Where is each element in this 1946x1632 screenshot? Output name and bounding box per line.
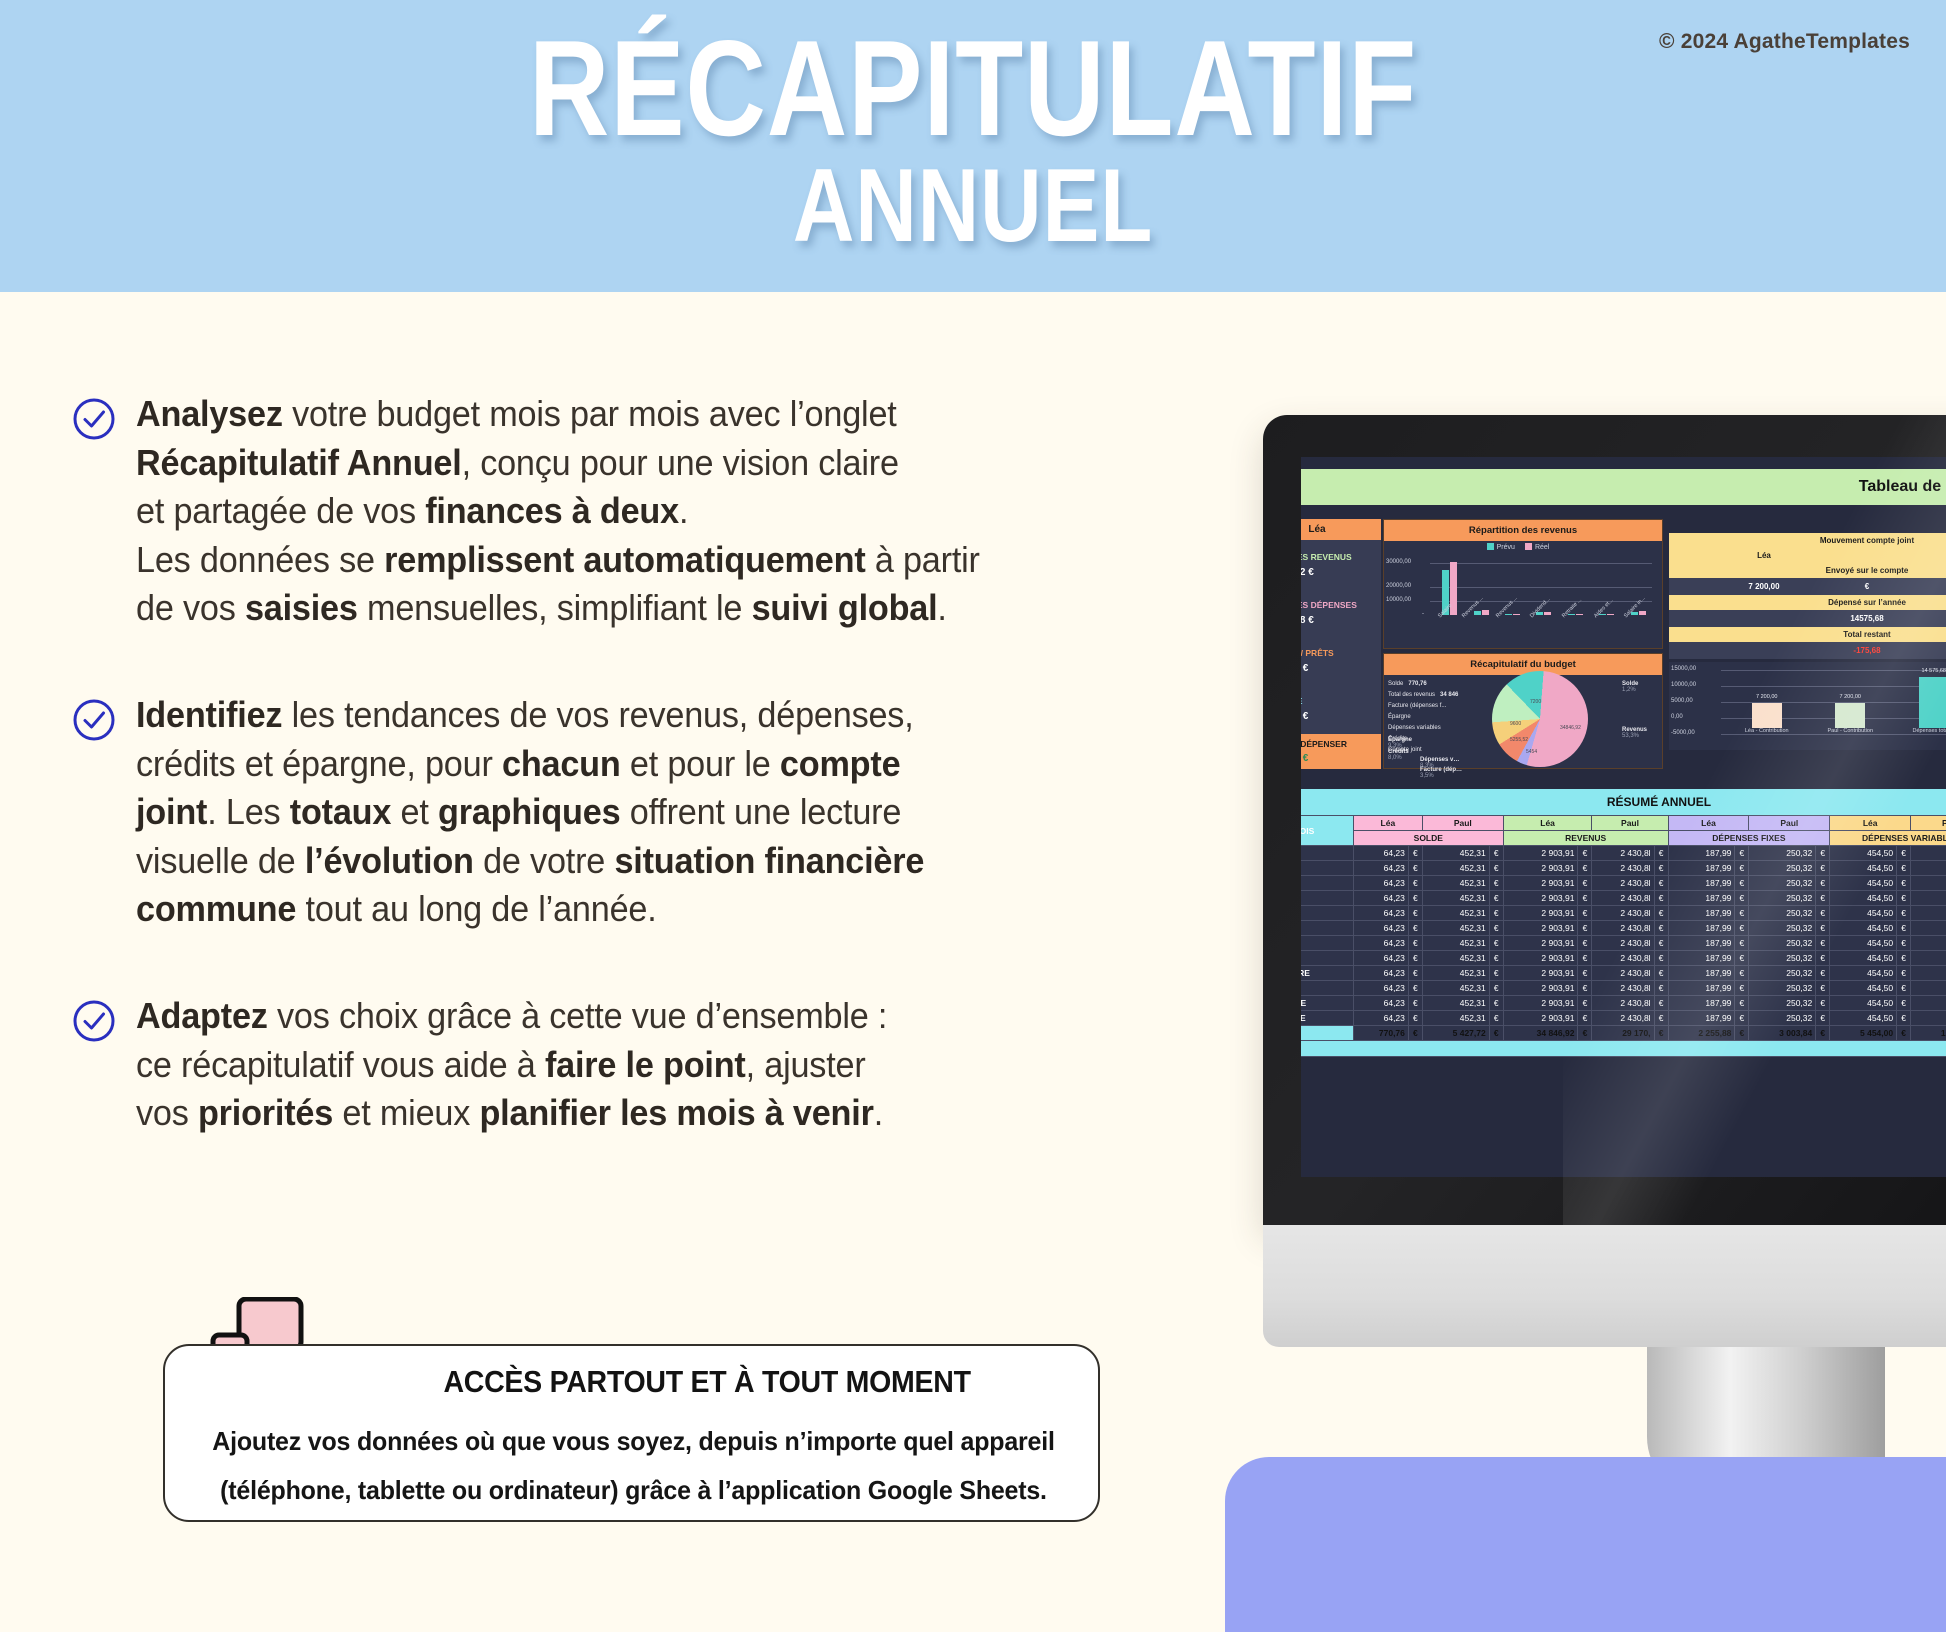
check-circle-icon (72, 698, 116, 742)
col-sub-léa: Léa (1830, 816, 1911, 831)
cell-value: 452,31 (1422, 846, 1489, 861)
benefit-text-line: joint. Les totaux et graphiques offrent … (136, 788, 924, 837)
totals-row: CRÉDITS / PRÊTS5 255,52 € (1301, 648, 1334, 674)
cell-currency: € (1816, 906, 1830, 921)
cell-currency: € (1735, 891, 1749, 906)
cell-currency: € (1578, 981, 1592, 996)
cell-value: 64,23 (1353, 951, 1408, 966)
cell-currency: € (1408, 966, 1422, 981)
cell-currency: € (1489, 891, 1503, 906)
cell-value: 187,99 (1668, 996, 1735, 1011)
benefit-text-line: commune tout au long de l’année. (136, 885, 924, 934)
cell-value: 454,50 (1830, 891, 1897, 906)
cell-currency: € (1654, 966, 1668, 981)
benefit-text-line: et partagée de vos finances à deux. (136, 487, 980, 536)
table-group-row: SOLDEREVENUSDÉPENSES FIXESDÉPENSES VARIA… (1301, 831, 1946, 846)
cell-value: 250,32 (1749, 906, 1816, 921)
cell-currency: € (1408, 891, 1422, 906)
cell-currency: € (1897, 981, 1911, 996)
cell-value: 454,50 (1830, 966, 1897, 981)
x-axis-label: Léa - Contribution (1744, 728, 1790, 750)
col-group-label: REVENUS (1503, 831, 1668, 846)
cell-currency: € (1408, 921, 1422, 936)
cell-currency: € (1897, 966, 1911, 981)
header-band: © 2024 AgatheTemplates RÉCAPITULATIF ANN… (0, 0, 1946, 292)
col-sub-léa: Léa (1668, 816, 1749, 831)
pie-callout: Épargne9,3% (1388, 737, 1412, 749)
joint-sent-paul: 7 200,00 (1875, 578, 1946, 595)
cell-currency: € (1816, 846, 1830, 861)
joint-x-labels: Léa - ContributionPaul - ContributionDép… (1725, 728, 1946, 750)
cell-currency: € (1578, 936, 1592, 951)
cell-currency: € (1897, 846, 1911, 861)
revenus-chart-panel: Répartition des revenus PrévuRéel 30000,… (1383, 519, 1663, 649)
joint-sent-lea: 7 200,00 (1669, 578, 1859, 595)
benefit-text-line: Adaptez vos choix grâce à cette vue d’en… (136, 992, 887, 1041)
col-month: MOIS (1301, 816, 1353, 846)
cell-value: 187,99 (1668, 846, 1735, 861)
table-row: MAI64,23€452,31€2 903,91€2 430,8l€187,99… (1301, 906, 1946, 921)
cell-currency: € (1654, 921, 1668, 936)
benefit-text-line: Identifiez les tendances de vos revenus,… (136, 691, 924, 740)
cell-currency: € (1816, 921, 1830, 936)
cell-currency: € (1489, 906, 1503, 921)
cell-value: 454,50 (1830, 906, 1897, 921)
cell-currency: € (1578, 861, 1592, 876)
cell-currency: € (1897, 906, 1911, 921)
cell-currency: € (1489, 981, 1503, 996)
totals-value: 3 003,84 (1749, 1026, 1816, 1041)
cell-currency: € (1408, 1011, 1422, 1026)
table-row: AOÛT64,23€452,31€2 903,91€2 430,8l€187,9… (1301, 951, 1946, 966)
cell-value: 885,77 (1911, 876, 1946, 891)
jtick-5000: 5000,00 (1671, 698, 1693, 704)
joint-title: Mouvement compte joint (1669, 533, 1946, 548)
pie-callout: Facture (dép…3,5% (1420, 767, 1462, 779)
benefit-item: Analysez votre budget mois par mois avec… (72, 390, 1182, 633)
totals-currency: € (1489, 1026, 1503, 1041)
cell-value: 2 430,8l (1592, 891, 1654, 906)
row-month-label: DÉCEMBRE (1301, 1011, 1353, 1026)
cell-value: 250,32 (1749, 861, 1816, 876)
cell-currency: € (1735, 906, 1749, 921)
cell-value: 250,32 (1749, 966, 1816, 981)
cell-currency: € (1816, 861, 1830, 876)
cell-value: 64,23 (1353, 891, 1408, 906)
table-row: JUILLET64,23€452,31€2 903,91€2 430,8l€18… (1301, 936, 1946, 951)
cell-value: 452,31 (1422, 981, 1489, 996)
row-month-label: MAI (1301, 906, 1353, 921)
cell-currency: € (1816, 966, 1830, 981)
cell-value: 64,23 (1353, 876, 1408, 891)
pie-callout: Revenus53,3% (1622, 727, 1647, 739)
cell-value: 2 903,91 (1503, 921, 1578, 936)
totals-value: 5 427,72 (1422, 1026, 1489, 1041)
cell-currency: € (1735, 846, 1749, 861)
cell-value: 2 430,8l (1592, 846, 1654, 861)
dashboard-top-row: Léa TOTAL DES REVENUS34 846,92 €TOTAL DE… (1301, 519, 1946, 769)
cell-currency: € (1408, 906, 1422, 921)
cell-value: 2 430,8l (1592, 981, 1654, 996)
cell-currency: € (1897, 1011, 1911, 1026)
cell-value: 2 903,91 (1503, 1011, 1578, 1026)
cell-value: 452,31 (1422, 861, 1489, 876)
bar: 7 200,00 (1835, 703, 1865, 728)
totals-panel-body: TOTAL DES REVENUS34 846,92 €TOTAL DES DÉ… (1301, 540, 1381, 745)
col-group-label: SOLDE (1353, 831, 1503, 846)
page-title-main: RÉCAPITULATIF (175, 26, 1771, 151)
legend-entry: Prévu (1487, 544, 1515, 551)
cell-value: 452,31 (1422, 951, 1489, 966)
totals-value: 5 454,00 (1830, 1026, 1897, 1041)
cell-currency: € (1489, 966, 1503, 981)
totals-row-value: 9 600,00 € (1301, 711, 1308, 722)
cell-value: 885,77 (1911, 861, 1946, 876)
cell-value: 452,31 (1422, 876, 1489, 891)
col-sub-paul: Paul (1422, 816, 1503, 831)
cell-currency: € (1816, 951, 1830, 966)
compte-joint-panel: Mouvement compte joint Léa Paul Envoyé s… (1669, 533, 1946, 769)
joint-remaining-value: -175,68 (1669, 642, 1946, 659)
cell-currency: € (1578, 891, 1592, 906)
cell-currency: € (1578, 846, 1592, 861)
table-row: JUIN64,23€452,31€2 903,91€2 430,8l€187,9… (1301, 921, 1946, 936)
bar: 7 200,00 (1752, 703, 1782, 728)
cell-value: 64,23 (1353, 966, 1408, 981)
row-month-label: AVRIL (1301, 891, 1353, 906)
cell-value: 64,23 (1353, 981, 1408, 996)
cell-value: 885,77 (1911, 951, 1946, 966)
joint-spent-label: Dépensé sur l’année (1669, 595, 1946, 610)
cell-currency: € (1897, 861, 1911, 876)
cell-value: 2 430,8l (1592, 906, 1654, 921)
totals-value: 770,76 (1353, 1026, 1408, 1041)
totals-value: 2 255,88 (1668, 1026, 1735, 1041)
annual-summary: RÉSUMÉ ANNUEL MOISLéaPaulLéaPaulLéaPaulL… (1301, 789, 1946, 1057)
cell-value: 64,23 (1353, 906, 1408, 921)
table-row: SEPTEMBRE64,23€452,31€2 903,91€2 430,8l€… (1301, 966, 1946, 981)
cell-currency: € (1489, 936, 1503, 951)
annual-table-tail (1301, 1041, 1946, 1057)
totals-panel-header: Léa (1301, 519, 1381, 540)
bar-data-label: 7 200,00 (1835, 694, 1865, 700)
table-row: DÉCEMBRE64,23€452,31€2 903,91€2 430,8l€1… (1301, 1011, 1946, 1026)
cell-value: 452,31 (1422, 891, 1489, 906)
totals-row-label: ÉPARGNE (1301, 696, 1302, 706)
cell-value: 452,31 (1422, 996, 1489, 1011)
cell-currency: € (1816, 1011, 1830, 1026)
cell-value: 250,32 (1749, 891, 1816, 906)
cell-value: 885,77 (1911, 906, 1946, 921)
benefit-text-line: crédits et épargne, pour chacun et pour … (136, 740, 924, 789)
cell-value: 885,77 (1911, 996, 1946, 1011)
bar-data-label: 7 200,00 (1752, 694, 1782, 700)
benefit-text-line: Analysez votre budget mois par mois avec… (136, 390, 980, 439)
compte-joint-bar-chart: 15000,00 10000,00 5000,00 0,00 -5000,00 … (1669, 662, 1946, 750)
cell-value: 2 430,8l (1592, 966, 1654, 981)
pie-callout: Crédits8,0% (1388, 749, 1409, 761)
cell-currency: € (1897, 891, 1911, 906)
row-month-label: MARS (1301, 876, 1353, 891)
cell-value: 250,32 (1749, 936, 1816, 951)
cell-currency: € (1735, 936, 1749, 951)
cell-currency: € (1735, 996, 1749, 1011)
cell-currency: € (1897, 996, 1911, 1011)
cell-value: 187,99 (1668, 861, 1735, 876)
ytick-30000: 30000,00 (1386, 559, 1411, 565)
cell-value: 452,31 (1422, 921, 1489, 936)
cell-value: 2 430,8l (1592, 876, 1654, 891)
joint-col-paul: Paul (1875, 548, 1946, 563)
access-callout: ACCÈS PARTOUT ET À TOUT MOMENT Ajoutez v… (163, 1344, 1100, 1522)
cell-value: 187,99 (1668, 966, 1735, 981)
cell-currency: € (1897, 951, 1911, 966)
cell-value: 250,32 (1749, 921, 1816, 936)
cell-currency: € (1654, 1011, 1668, 1026)
bar: 14 575,68 (1919, 677, 1946, 728)
annual-table-body: JANVIER64,23€452,31€2 903,91€2 430,8l€18… (1301, 846, 1946, 1041)
row-month-label: JUILLET (1301, 936, 1353, 951)
cell-currency: € (1654, 936, 1668, 951)
row-month-label: FÉVRIER (1301, 861, 1353, 876)
cell-currency: € (1408, 846, 1422, 861)
table-row: AVRIL64,23€452,31€2 903,91€2 430,8l€187,… (1301, 891, 1946, 906)
cell-value: 2 903,91 (1503, 846, 1578, 861)
pie-slices (1492, 671, 1588, 767)
monitor-chin (1263, 1225, 1946, 1347)
compte-joint-table: Mouvement compte joint Léa Paul Envoyé s… (1669, 533, 1946, 659)
cell-value: 250,32 (1749, 846, 1816, 861)
budget-pie-chart: Solde 770,76Total des revenus 34 846Fact… (1384, 675, 1662, 767)
cell-currency: € (1489, 996, 1503, 1011)
cell-value: 250,32 (1749, 951, 1816, 966)
cell-value: 187,99 (1668, 906, 1735, 921)
cell-value: 64,23 (1353, 846, 1408, 861)
table-row: NOVEMBRE64,23€452,31€2 903,91€2 430,8l€1… (1301, 996, 1946, 1011)
table-totals-row: TOTAUX770,76€5 427,72€34 846,92€29 170,€… (1301, 1026, 1946, 1041)
dashboard-title: Tableau de bord - Annuel (1301, 469, 1946, 505)
totals-currency: € (1735, 1026, 1749, 1041)
cell-currency: € (1654, 876, 1668, 891)
x-axis-label: Paul - Contribution (1827, 728, 1873, 750)
cell-currency: € (1897, 936, 1911, 951)
benefit-text-line: visuelle de l’évolution de votre situati… (136, 837, 924, 886)
check-circle-icon (72, 999, 116, 1043)
cell-value: 885,77 (1911, 921, 1946, 936)
totals-row: TOTAL DES DÉPENSES13 709,88 € (1301, 600, 1357, 626)
cell-value: 885,77 (1911, 981, 1946, 996)
cell-value: 454,50 (1830, 936, 1897, 951)
cell-currency: € (1897, 921, 1911, 936)
jtick-0: 0,00 (1671, 714, 1683, 720)
cell-value: 187,99 (1668, 951, 1735, 966)
totals-currency: € (1816, 1026, 1830, 1041)
benefit-item: Identifiez les tendances de vos revenus,… (72, 691, 1182, 934)
callout-line-2: (téléphone, tablette ou ordinateur) grâc… (184, 1477, 1084, 1503)
annual-summary-table: MOISLéaPaulLéaPaulLéaPaulLéaPaulLéaSOLDE… (1301, 815, 1946, 1041)
cell-value: 452,31 (1422, 906, 1489, 921)
cell-currency: € (1578, 996, 1592, 1011)
col-sub-léa: Léa (1353, 816, 1422, 831)
pie-callout: Solde1,2% (1622, 681, 1638, 693)
cell-value: 64,23 (1353, 1011, 1408, 1026)
benefit-text: Adaptez vos choix grâce à cette vue d’en… (136, 992, 887, 1138)
cell-value: 454,50 (1830, 846, 1897, 861)
annual-summary-title: RÉSUMÉ ANNUEL (1301, 789, 1946, 815)
cell-currency: € (1816, 891, 1830, 906)
spreadsheet: Tableau de bord - Annuel Léa TOTAL DES R… (1301, 457, 1946, 1177)
col-sub-paul: Paul (1592, 816, 1668, 831)
cell-currency: € (1489, 861, 1503, 876)
cell-value: 2 430,8l (1592, 921, 1654, 936)
table-row: OCTOBRE64,23€452,31€2 903,91€2 430,8l€18… (1301, 981, 1946, 996)
cell-value: 885,77 (1911, 936, 1946, 951)
revenus-chart-legend: PrévuRéel (1384, 543, 1662, 551)
cell-value: 885,77 (1911, 846, 1946, 861)
cell-value: 2 430,8l (1592, 1011, 1654, 1026)
cell-value: 2 903,91 (1503, 966, 1578, 981)
cell-currency: € (1735, 861, 1749, 876)
cell-currency: € (1489, 846, 1503, 861)
cell-value: 454,50 (1830, 1011, 1897, 1026)
cell-currency: € (1735, 1011, 1749, 1026)
cell-value: 2 430,8l (1592, 996, 1654, 1011)
totals-row-value: 34 846,92 € (1301, 567, 1352, 578)
revenus-bar-chart: PrévuRéel 30000,00 20000,00 10000,00 - S… (1384, 541, 1662, 637)
cell-value: 187,99 (1668, 936, 1735, 951)
totals-currency: € (1408, 1026, 1422, 1041)
cell-currency: € (1816, 936, 1830, 951)
cell-value: 885,77 (1911, 1011, 1946, 1026)
page-title-sub: ANNUEL (175, 159, 1771, 255)
cell-value: 250,32 (1749, 996, 1816, 1011)
cell-currency: € (1578, 966, 1592, 981)
cell-value: 187,99 (1668, 1011, 1735, 1026)
reste-label: RESTE À DÉPENSER (1301, 739, 1347, 749)
cell-currency: € (1408, 981, 1422, 996)
decorative-blue-shape (1225, 1457, 1946, 1632)
cell-value: 187,99 (1668, 876, 1735, 891)
cell-currency: € (1408, 861, 1422, 876)
totals-row-label: TOTAL DES REVENUS (1301, 552, 1352, 562)
cell-currency: € (1735, 921, 1749, 936)
revenus-x-labels: SalaireRevenus ...Revenus ...Dividend...… (1434, 615, 1654, 637)
ytick-10000: 10000,00 (1386, 597, 1411, 603)
cell-value: 2 903,91 (1503, 861, 1578, 876)
legend-entry: Réel (1525, 544, 1549, 551)
cell-value: 2 903,91 (1503, 936, 1578, 951)
ytick-20000: 20000,00 (1386, 583, 1411, 589)
joint-bars: 7 200,007 200,0014 575,68-175,68 (1725, 676, 1946, 728)
joint-spent-value: 14575,68 (1669, 610, 1946, 627)
joint-col-lea: Léa (1669, 548, 1859, 563)
cell-value: 452,31 (1422, 1011, 1489, 1026)
cell-value: 2 903,91 (1503, 876, 1578, 891)
cell-currency: € (1408, 936, 1422, 951)
pie-legend-row: Facture (dépenses f... (1388, 703, 1446, 709)
pie-legend-row: Épargne (1388, 714, 1411, 720)
ytick-zero: - (1422, 611, 1424, 617)
cell-value: 452,31 (1422, 936, 1489, 951)
row-month-label: AOÛT (1301, 951, 1353, 966)
cell-currency: € (1897, 876, 1911, 891)
reste-a-depenser-cell: RESTE À DÉPENSER 6 352,28 € (1301, 734, 1381, 769)
cell-currency: € (1408, 876, 1422, 891)
row-month-label: OCTOBRE (1301, 981, 1353, 996)
pie-legend-row: Solde 770,76 (1388, 681, 1427, 687)
cell-currency: € (1816, 996, 1830, 1011)
cell-value: 454,50 (1830, 996, 1897, 1011)
cell-currency: € (1735, 951, 1749, 966)
benefit-text-line: Les données se remplissent automatiqueme… (136, 536, 980, 585)
cell-value: 2 430,8l (1592, 936, 1654, 951)
cell-value: 454,50 (1830, 861, 1897, 876)
row-month-label: SEPTEMBRE (1301, 966, 1353, 981)
totals-row: ÉPARGNE9 600,00 € (1301, 696, 1308, 722)
totals-row: TOTAL DES REVENUS34 846,92 € (1301, 552, 1352, 578)
cell-currency: € (1408, 951, 1422, 966)
cell-value: 2 430,8l (1592, 951, 1654, 966)
cell-currency: € (1578, 1011, 1592, 1026)
table-header-row: MOISLéaPaulLéaPaulLéaPaulLéaPaulLéa (1301, 816, 1946, 831)
col-group-label: DÉPENSES FIXES (1668, 831, 1830, 846)
cell-currency: € (1489, 1011, 1503, 1026)
callout-line-1: Ajoutez vos données où que vous soyez, d… (184, 1428, 1084, 1454)
cell-value: 454,50 (1830, 981, 1897, 996)
pie-legend-row: Total des revenus 34 846 (1388, 692, 1458, 698)
cell-value: 454,50 (1830, 951, 1897, 966)
cell-value: 187,99 (1668, 981, 1735, 996)
totals-row-value: 5 255,52 € (1301, 663, 1334, 674)
row-month-label: NOVEMBRE (1301, 996, 1353, 1011)
cell-value: 885,77 (1911, 891, 1946, 906)
reste-value: 6 352,28 € (1301, 753, 1373, 764)
cell-currency: € (1578, 921, 1592, 936)
cell-value: 2 903,91 (1503, 996, 1578, 1011)
benefit-text-line: de vos saisies mensuelles, simplifiant l… (136, 584, 980, 633)
cell-currency: € (1816, 981, 1830, 996)
annual-table-head: MOISLéaPaulLéaPaulLéaPaulLéaPaulLéaSOLDE… (1301, 816, 1946, 846)
cell-value: 64,23 (1353, 921, 1408, 936)
cell-value: 2 430,8l (1592, 861, 1654, 876)
page-title: RÉCAPITULATIF ANNUEL (0, 26, 1946, 255)
cell-currency: € (1735, 876, 1749, 891)
benefit-text-line: vos priorités et mieux planifier les moi… (136, 1089, 887, 1138)
cell-value: 187,99 (1668, 921, 1735, 936)
joint-remaining-label: Total restant (1669, 627, 1946, 642)
jtick-neg5000: -5000,00 (1671, 730, 1695, 736)
benefit-text-line: Récapitulatif Annuel, conçu pour une vis… (136, 439, 980, 488)
cell-value: 885,77 (1911, 966, 1946, 981)
cell-currency: € (1408, 996, 1422, 1011)
pie-legend-row: Dépenses variables (1388, 725, 1441, 731)
cell-value: 2 903,91 (1503, 951, 1578, 966)
revenus-chart-title: Répartition des revenus (1384, 520, 1662, 541)
totals-row-label: CRÉDITS / PRÊTS (1301, 648, 1334, 658)
callout-title: ACCÈS PARTOUT ET À TOUT MOMENT (202, 1364, 1064, 1400)
totals-panel: Léa TOTAL DES REVENUS34 846,92 €TOTAL DE… (1301, 519, 1381, 769)
cell-value: 64,23 (1353, 996, 1408, 1011)
check-circle-icon (72, 397, 116, 441)
cell-value: 64,23 (1353, 861, 1408, 876)
totals-currency: € (1578, 1026, 1592, 1041)
cell-value: 250,32 (1749, 1011, 1816, 1026)
cell-value: 454,50 (1830, 876, 1897, 891)
joint-currency: € (1859, 578, 1875, 595)
row-month-label: JANVIER (1301, 846, 1353, 861)
totals-row-value: 13 709,88 € (1301, 615, 1357, 626)
cell-currency: € (1489, 921, 1503, 936)
